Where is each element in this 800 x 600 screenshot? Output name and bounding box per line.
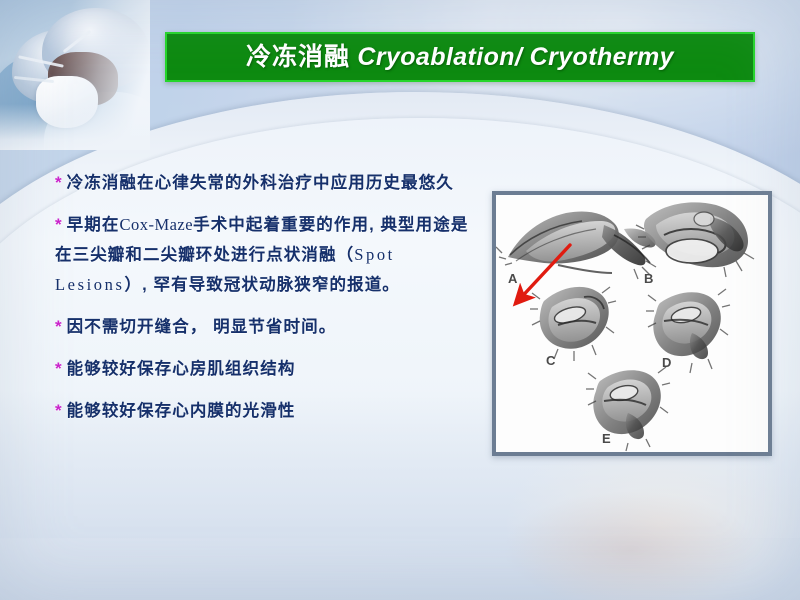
bullet-item-2-part-3: ）, 罕有导致冠状动脉狭窄的报道。 bbox=[125, 276, 400, 294]
sketch-label-d: D bbox=[662, 355, 671, 370]
bullet-item-3: *因不需切开缝合， 明显节省时间。 bbox=[55, 312, 475, 342]
sketch-label-a: A bbox=[508, 271, 518, 286]
cryoablation-lesion-sketches: A B bbox=[496, 195, 768, 452]
sketch-label-c: C bbox=[546, 353, 556, 368]
background-blob-right-bottom bbox=[480, 490, 780, 600]
slide-title-cjk: 冷冻消融 bbox=[246, 43, 350, 71]
bullet-item-1: *冷冻消融在心律失常的外科治疗中应用历史最悠久 bbox=[55, 168, 475, 198]
surgeons-photo bbox=[0, 0, 150, 150]
bullet-item-5-text: 能够较好保存心内膜的光滑性 bbox=[67, 402, 296, 420]
bullet-marker-icon: * bbox=[55, 401, 62, 420]
bullet-item-4-text: 能够较好保存心房肌组织结构 bbox=[67, 360, 296, 378]
sketch-panel-a: A bbox=[496, 211, 656, 286]
sketch-panel-d: D bbox=[646, 289, 730, 373]
bullet-item-2-latin-cox-maze: Cox-Maze bbox=[119, 215, 193, 234]
sketch-label-b: B bbox=[644, 271, 653, 286]
sketch-label-e: E bbox=[602, 431, 611, 446]
presentation-slide: 冷冻消融 Cryoablation/ Cryothermy *冷冻消融在心律失常… bbox=[0, 0, 800, 600]
photo-bottom-fade bbox=[0, 104, 150, 150]
bullet-marker-icon: * bbox=[55, 215, 62, 234]
illustration-canvas: A B bbox=[496, 195, 768, 452]
title-banner: 冷冻消融 Cryoablation/ Cryothermy bbox=[165, 32, 755, 82]
illustration-panel: A B bbox=[492, 191, 772, 456]
bullet-marker-icon: * bbox=[55, 359, 62, 378]
slide-title: 冷冻消融 Cryoablation/ Cryothermy bbox=[246, 45, 674, 70]
bullet-item-2-part-1: 早期在 bbox=[67, 216, 120, 234]
bullet-item-3-text: 因不需切开缝合， 明显节省时间。 bbox=[67, 318, 337, 336]
bullet-marker-icon: * bbox=[55, 317, 62, 336]
bullet-list: *冷冻消融在心律失常的外科治疗中应用历史最悠久 *早期在Cox-Maze手术中起… bbox=[55, 168, 475, 438]
bullet-item-2: *早期在Cox-Maze手术中起着重要的作用, 典型用途是在三尖瓣和二尖瓣环处进… bbox=[55, 210, 475, 300]
bullet-item-4: *能够较好保存心房肌组织结构 bbox=[55, 354, 475, 384]
bullet-item-5: *能够较好保存心内膜的光滑性 bbox=[55, 396, 475, 426]
slide-title-latin: Cryoablation/ Cryothermy bbox=[350, 43, 674, 71]
sketch-panel-c: C bbox=[530, 287, 616, 368]
bullet-marker-icon: * bbox=[55, 173, 62, 192]
bullet-item-1-text: 冷冻消融在心律失常的外科治疗中应用历史最悠久 bbox=[67, 174, 454, 192]
sketch-panel-e: E bbox=[586, 367, 670, 451]
